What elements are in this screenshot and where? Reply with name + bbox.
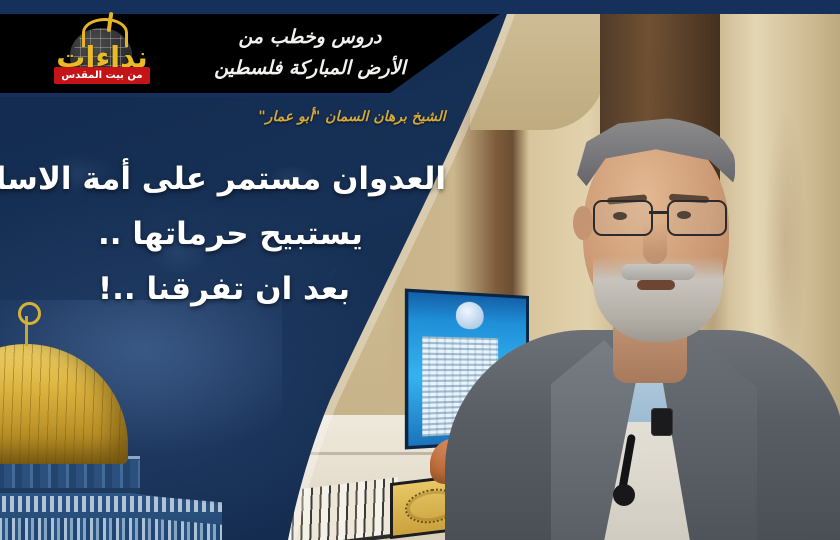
top-blue-strip [0,0,840,14]
lens-left [593,200,653,236]
banner-line-2: الأرض المباركة فلسطين [150,53,470,84]
headline-line-2: يستبيح حرماتها .. [0,207,420,262]
speaker-name-label: الشيخ برهان السمان "أبو عمار" [252,104,452,130]
speaker-figure [455,88,840,540]
headline-line-3: بعد ان تفرقنا ..! [0,262,420,317]
logo-subtitle-banner: من بيت المقدس [54,67,150,84]
headline-line-1: العدوان مستمر على أمة الاسلام [0,152,458,207]
program-banner-text: دروس وخطب من الأرض المباركة فلسطين [150,22,470,88]
broadcast-screenshot: نداءات من بيت المقدس دروس وخطب من الأرض … [0,0,840,540]
moustache [621,264,695,280]
ear [573,206,593,240]
microphone-clip [613,484,635,506]
channel-logo: نداءات من بيت المقدس [52,20,152,90]
eyeglasses-icon [593,200,725,236]
drum-windows [0,460,140,488]
lens-right [667,200,727,236]
headline-block: العدوان مستمر على أمة الاسلام يستبيح حرم… [0,152,420,317]
dome-of-the-rock-illustration [0,300,282,540]
glasses-bridge [649,211,667,214]
mouth [637,280,675,290]
lapel-microphone [651,408,673,436]
banner-bottom-strip [0,93,420,97]
banner-line-1: دروس وخطب من [150,22,470,53]
